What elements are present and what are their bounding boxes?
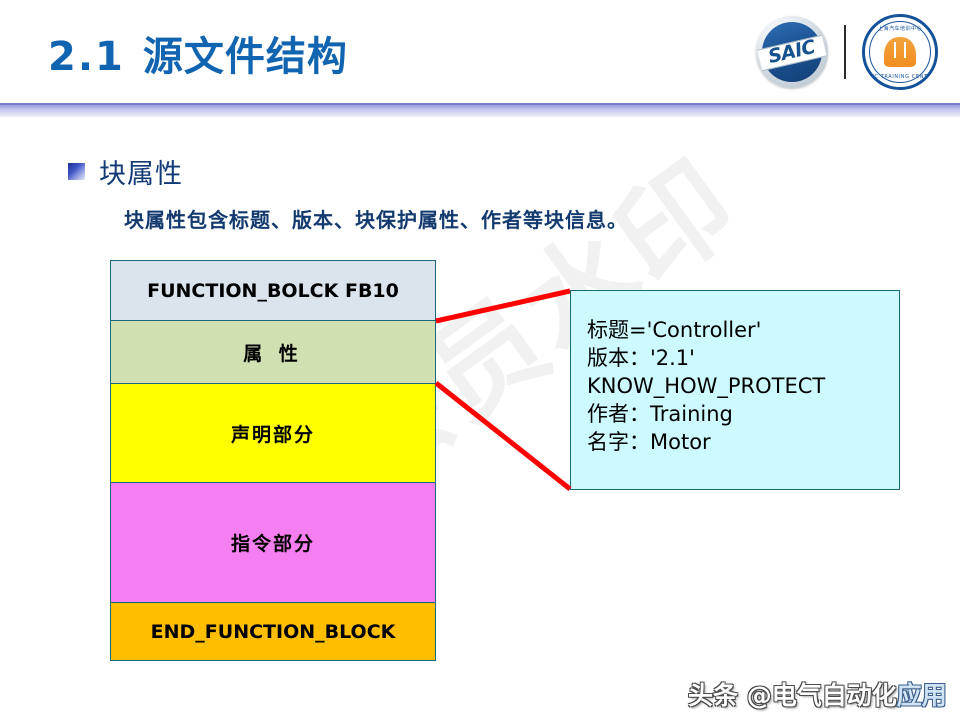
- bullet-square-icon: [68, 163, 85, 180]
- ginkgo-leaf-icon: [884, 37, 916, 67]
- block-instruction-section: 指令部分: [110, 483, 436, 603]
- saic-training-center-seal-icon: 上海汽车培训中心 SAIC TRAINING CENTER: [862, 14, 938, 90]
- slide-canvas: 非会员水印 2.1源文件结构 SAIC 上海汽车培训中心 SAIC TRAINI…: [0, 0, 960, 720]
- seal-bottom-text: SAIC TRAINING CENTER: [865, 74, 936, 80]
- source-file-structure-diagram: FUNCTION_BOLCK FB10 属 性 声明部分 指令部分 END_FU…: [110, 260, 436, 661]
- header-divider: [0, 103, 960, 117]
- block-declaration-section: 声明部分: [110, 384, 436, 483]
- callout-line-version: 版本：'2.1': [587, 345, 899, 373]
- logo-group: SAIC 上海汽车培训中心 SAIC TRAINING CENTER: [756, 16, 938, 88]
- bottom-watermark: 头条 @电气自动化应用: [688, 676, 947, 712]
- bottom-watermark-prefix: 头条 @电气自动化: [688, 681, 897, 710]
- callout-line-author: 作者：Training: [587, 401, 899, 429]
- connector-line-top: [436, 291, 570, 321]
- attribute-detail-callout: 标题='Controller' 版本：'2.1' KNOW_HOW_PROTEC…: [570, 290, 900, 490]
- block-function-block-header: FUNCTION_BOLCK FB10: [110, 260, 436, 321]
- seal-top-text: 上海汽车培训中心: [878, 25, 922, 32]
- logo-separator: [844, 25, 846, 79]
- callout-line-title: 标题='Controller': [587, 317, 899, 345]
- saic-brand-logo-icon: SAIC: [756, 16, 828, 88]
- bullet-heading-label: 块属性: [99, 152, 183, 191]
- callout-line-protect: KNOW_HOW_PROTECT: [587, 373, 899, 401]
- callout-line-name: 名字：Motor: [587, 429, 899, 457]
- block-attributes: 属 性: [110, 321, 436, 384]
- block-end-function-block: END_FUNCTION_BLOCK: [110, 603, 436, 661]
- connector-line-bottom: [436, 383, 570, 489]
- page-title-number: 2.1: [48, 34, 125, 80]
- slide-header: 2.1源文件结构 SAIC 上海汽车培训中心 SAIC TRAINING CEN…: [0, 0, 960, 104]
- page-title-text: 源文件结构: [143, 34, 348, 80]
- bullet-heading-row: 块属性: [68, 152, 183, 191]
- bottom-watermark-suffix: 应用: [897, 681, 947, 710]
- page-title: 2.1源文件结构: [48, 24, 348, 82]
- sub-description-text: 块属性包含标题、版本、块保护属性、作者等块信息。: [124, 204, 628, 233]
